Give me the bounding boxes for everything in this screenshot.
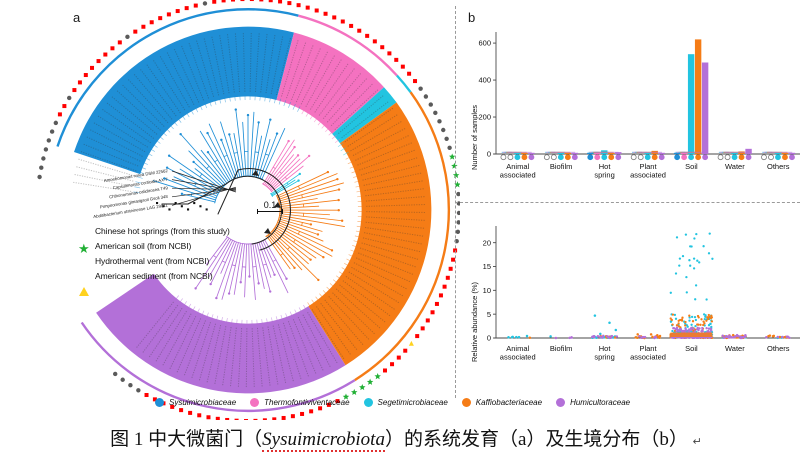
category-series-marker [565, 155, 570, 160]
scatter-y-tick-label: 15 [483, 262, 491, 271]
family-color-dot-icon [155, 398, 164, 407]
bar [695, 39, 701, 154]
scatter-x-category-label: spring [594, 353, 614, 362]
scatter-x-category-label: Biofilm [550, 344, 573, 353]
caption-prefix: 图 1 中大微菌门（ [110, 429, 262, 450]
bar [558, 153, 564, 154]
scatter-y-tick-label: 10 [483, 286, 491, 295]
category-series-marker [602, 155, 607, 160]
category-series-marker [761, 155, 766, 160]
scale-bar: 0.1 [250, 200, 290, 212]
caption-suffix: ）的系统发育（a）及生境分布（b） [385, 429, 688, 450]
category-series-marker [775, 155, 780, 160]
legend-label: Chinese hot springs (from this study) [95, 226, 230, 236]
family-legend-label: Kaffiobacteriaceae [476, 398, 542, 407]
category-series-marker [696, 155, 701, 160]
family-color-dot-icon [250, 398, 259, 407]
scatter-y-tick-label: 20 [483, 238, 491, 247]
category-series-marker [652, 155, 657, 160]
bar-chart-plot: 0200400600AnimalassociatedBiofilmHotspri… [456, 20, 806, 205]
scatter-x-category-label: associated [630, 353, 666, 362]
category-series-marker [689, 155, 694, 160]
category-series-marker [782, 155, 787, 160]
scatter-y-tick-label: 5 [487, 310, 491, 319]
bar [587, 153, 593, 154]
scatter-x-category-label: Soil [685, 344, 698, 353]
family-legend-item-kaffiobacteriaceae: Kaffiobacteriaceae [462, 398, 542, 407]
category-series-marker [544, 155, 549, 160]
bar-chart-x-category-label: Others [767, 162, 790, 171]
bar [521, 153, 527, 154]
legend-item-chinese-hot-springs: Chinese hot springs (from this study) [78, 224, 268, 238]
scatter-x-category-label: Water [725, 344, 745, 353]
sector-sysuimicrobiaceae [74, 27, 294, 174]
category-series-marker [588, 155, 593, 160]
scatter-y-tick-label: 0 [487, 334, 491, 343]
bar [565, 153, 571, 154]
scale-bar-label: 0.1 [250, 200, 290, 210]
bar [681, 153, 687, 154]
category-series-marker [508, 155, 513, 160]
category-series-marker [522, 155, 527, 160]
category-series-marker [515, 155, 520, 160]
category-series-marker [725, 155, 730, 160]
category-series-marker [739, 155, 744, 160]
family-legend-item-humicultoraceae: Humicultoraceae [556, 398, 630, 407]
category-series-marker [659, 155, 664, 160]
legend-label: American sediment (from NCBI) [95, 271, 213, 281]
family-color-dot-icon [462, 398, 471, 407]
category-series-marker [789, 155, 794, 160]
bar-chart-x-category-label: Water [725, 162, 745, 171]
category-series-marker [616, 155, 621, 160]
bar-chart-y-tick-label: 0 [487, 150, 491, 159]
bar [775, 153, 781, 154]
family-legend-label: Segetimicrobiaceae [378, 398, 448, 407]
category-series-marker [595, 155, 600, 160]
red-square-icon [78, 225, 90, 237]
category-series-marker [682, 155, 687, 160]
caption-taxon-name: Sysuimicrobiota [262, 429, 385, 452]
scatter-chart-y-axis-title: Relative abundance (%) [470, 282, 479, 362]
scatter-plot: 05101520AnimalassociatedBiofilmHotspring… [456, 212, 806, 392]
category-series-marker [732, 155, 737, 160]
bar-chart-y-tick-label: 600 [478, 39, 491, 48]
source-legend: Chinese hot springs (from this study) ★ … [78, 224, 268, 284]
category-series-marker [746, 155, 751, 160]
chart-number-of-samples: Number of samples 0200400600Animalassoci… [456, 20, 806, 205]
bar-chart-x-category-label: Soil [685, 162, 698, 171]
bar [731, 153, 737, 154]
bar [782, 153, 788, 154]
category-series-marker [529, 155, 534, 160]
category-series-marker [703, 155, 708, 160]
bar-chart-x-category-label: associated [630, 171, 666, 180]
gray-circle-icon [78, 255, 90, 267]
panel-b-habitat-distribution: b Number of samples 0200400600Animalasso… [455, 6, 808, 398]
arc-line-cyan [397, 76, 411, 93]
category-series-marker [609, 155, 614, 160]
family-legend-label: Sysuimicrobiaceae [169, 398, 236, 407]
bar-chart-y-axis-title: Number of samples [470, 105, 479, 170]
family-legend-item-segetimicrobiaceae: Segetimicrobiaceae [364, 398, 448, 407]
bar-chart-y-tick-label: 400 [478, 76, 491, 85]
bar [745, 149, 751, 154]
scatter-x-category-label: associated [500, 353, 536, 362]
category-series-marker [718, 155, 723, 160]
scale-bar-line [257, 211, 283, 212]
outgroup-taxa: Amoebomonas rosea DSM 22562Capsulimonas … [93, 168, 236, 219]
legend-item-american-soil: ★ American soil (from NCBI) [78, 239, 268, 253]
category-series-marker [572, 155, 577, 160]
family-legend-label: Thermofontiviventaceae [264, 398, 349, 407]
legend-item-american-sediment: American sediment (from NCBI) [78, 269, 268, 283]
scatter-x-category-label: Others [767, 344, 790, 353]
bar [688, 54, 694, 154]
family-legend-item-sysuimicrobiaceae: Sysuimicrobiaceae [155, 398, 236, 407]
category-series-marker [768, 155, 773, 160]
family-color-dot-icon [364, 398, 373, 407]
bar [528, 153, 534, 154]
bar-chart-y-tick-label: 200 [478, 113, 491, 122]
bar [789, 153, 795, 154]
bar [674, 153, 680, 154]
bar [702, 63, 708, 155]
bar-chart-x-category-label: spring [594, 171, 614, 180]
legend-item-hydrothermal-vent: Hydrothermal vent (from NCBI) [78, 254, 268, 268]
bar [572, 153, 578, 154]
category-series-marker [501, 155, 506, 160]
family-legend-label: Humicultoraceae [570, 398, 630, 407]
green-star-icon: ★ [78, 240, 90, 252]
bar [594, 153, 600, 154]
category-series-marker [631, 155, 636, 160]
figure-caption: 图 1 中大微菌门（Sysuimicrobiota）的系统发育（a）及生境分布（… [0, 424, 812, 451]
bar [514, 153, 520, 154]
legend-label: American soil (from NCBI) [95, 241, 191, 251]
pilcrow-mark: ↵ [693, 436, 702, 448]
category-series-marker [675, 155, 680, 160]
chart-relative-abundance: Relative abundance (%) 05101520Animalass… [456, 212, 806, 392]
bar [608, 153, 614, 154]
family-legend-item-thermofontiviventaceae: Thermofontiviventaceae [250, 398, 349, 407]
category-series-marker [645, 155, 650, 160]
family-color-dot-icon [556, 398, 565, 407]
circular-phylogenetic-tree: Amoebomonas rosea DSM 22562Capsulimonas … [0, 0, 460, 420]
figure-container: a [0, 0, 812, 466]
category-series-marker [638, 155, 643, 160]
category-series-marker [558, 155, 563, 160]
bar [659, 153, 665, 154]
yellow-triangle-icon [78, 270, 90, 282]
legend-label: Hydrothermal vent (from NCBI) [95, 256, 209, 266]
bar-chart-x-category-label: Biofilm [550, 162, 573, 171]
panel-a-phylogenetic-tree: a [0, 0, 460, 420]
bar [645, 153, 651, 154]
category-series-marker [551, 155, 556, 160]
bar-chart-x-category-label: associated [500, 171, 536, 180]
